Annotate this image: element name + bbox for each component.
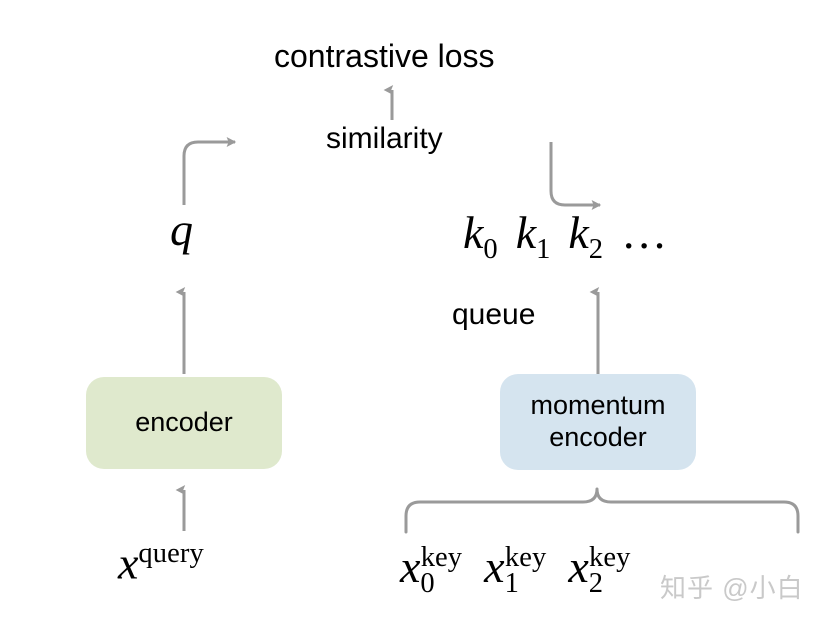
key-input-base-2: x	[568, 541, 588, 592]
key-base-1: k	[516, 207, 536, 258]
key-symbol-1: k1	[516, 206, 551, 266]
momentum-encoder-line1: momentum	[530, 390, 665, 420]
keys-row: k0 k1 k2 …	[463, 206, 669, 266]
momentum-encoder-box[interactable]: momentum encoder	[500, 374, 696, 470]
key-symbol-0: k0	[463, 206, 498, 266]
keys-ellipsis: …	[621, 206, 669, 259]
key-input-base-1: x	[484, 541, 504, 592]
momentum-encoder-box-label: momentum encoder	[530, 390, 665, 454]
query-symbol: q	[170, 207, 193, 253]
key-inputs-brace	[406, 489, 798, 532]
key-input-sup-0: key	[421, 542, 462, 573]
key-input-symbol-0: x0key	[400, 540, 462, 600]
key-sub-0: 0	[483, 234, 497, 265]
similarity-label: similarity	[326, 124, 443, 154]
query-input-sup: query	[138, 538, 203, 569]
key-input-symbol-2: x2key	[568, 540, 630, 600]
momentum-encoder-line2: encoder	[549, 422, 647, 452]
zhihu-watermark: 知乎 @小白	[660, 568, 804, 605]
key-input-sup-1: key	[505, 542, 546, 573]
encoder-box[interactable]: encoder	[86, 377, 282, 469]
key-sub-2: 2	[589, 234, 603, 265]
encoder-box-label: encoder	[135, 407, 233, 439]
arrow-keys-to-similarity	[551, 142, 600, 205]
key-input-sup-2: key	[589, 542, 630, 573]
queue-label: queue	[452, 300, 535, 330]
key-sub-1: 1	[536, 234, 550, 265]
key-input-symbol-1: x1key	[484, 540, 546, 600]
key-base-0: k	[463, 207, 483, 258]
query-input-base: x	[118, 537, 138, 588]
query-input-symbol: xquery	[118, 540, 204, 586]
key-symbol-2: k2	[568, 206, 603, 266]
diagram-canvas: contrastive loss similarity q k0 k1 k2 ……	[0, 0, 826, 634]
arrow-q-to-similarity	[184, 142, 235, 205]
key-inputs-row: x0key x1key x2key	[400, 540, 631, 600]
key-base-2: k	[568, 207, 588, 258]
key-input-base-0: x	[400, 541, 420, 592]
contrastive-loss-label: contrastive loss	[274, 40, 495, 72]
